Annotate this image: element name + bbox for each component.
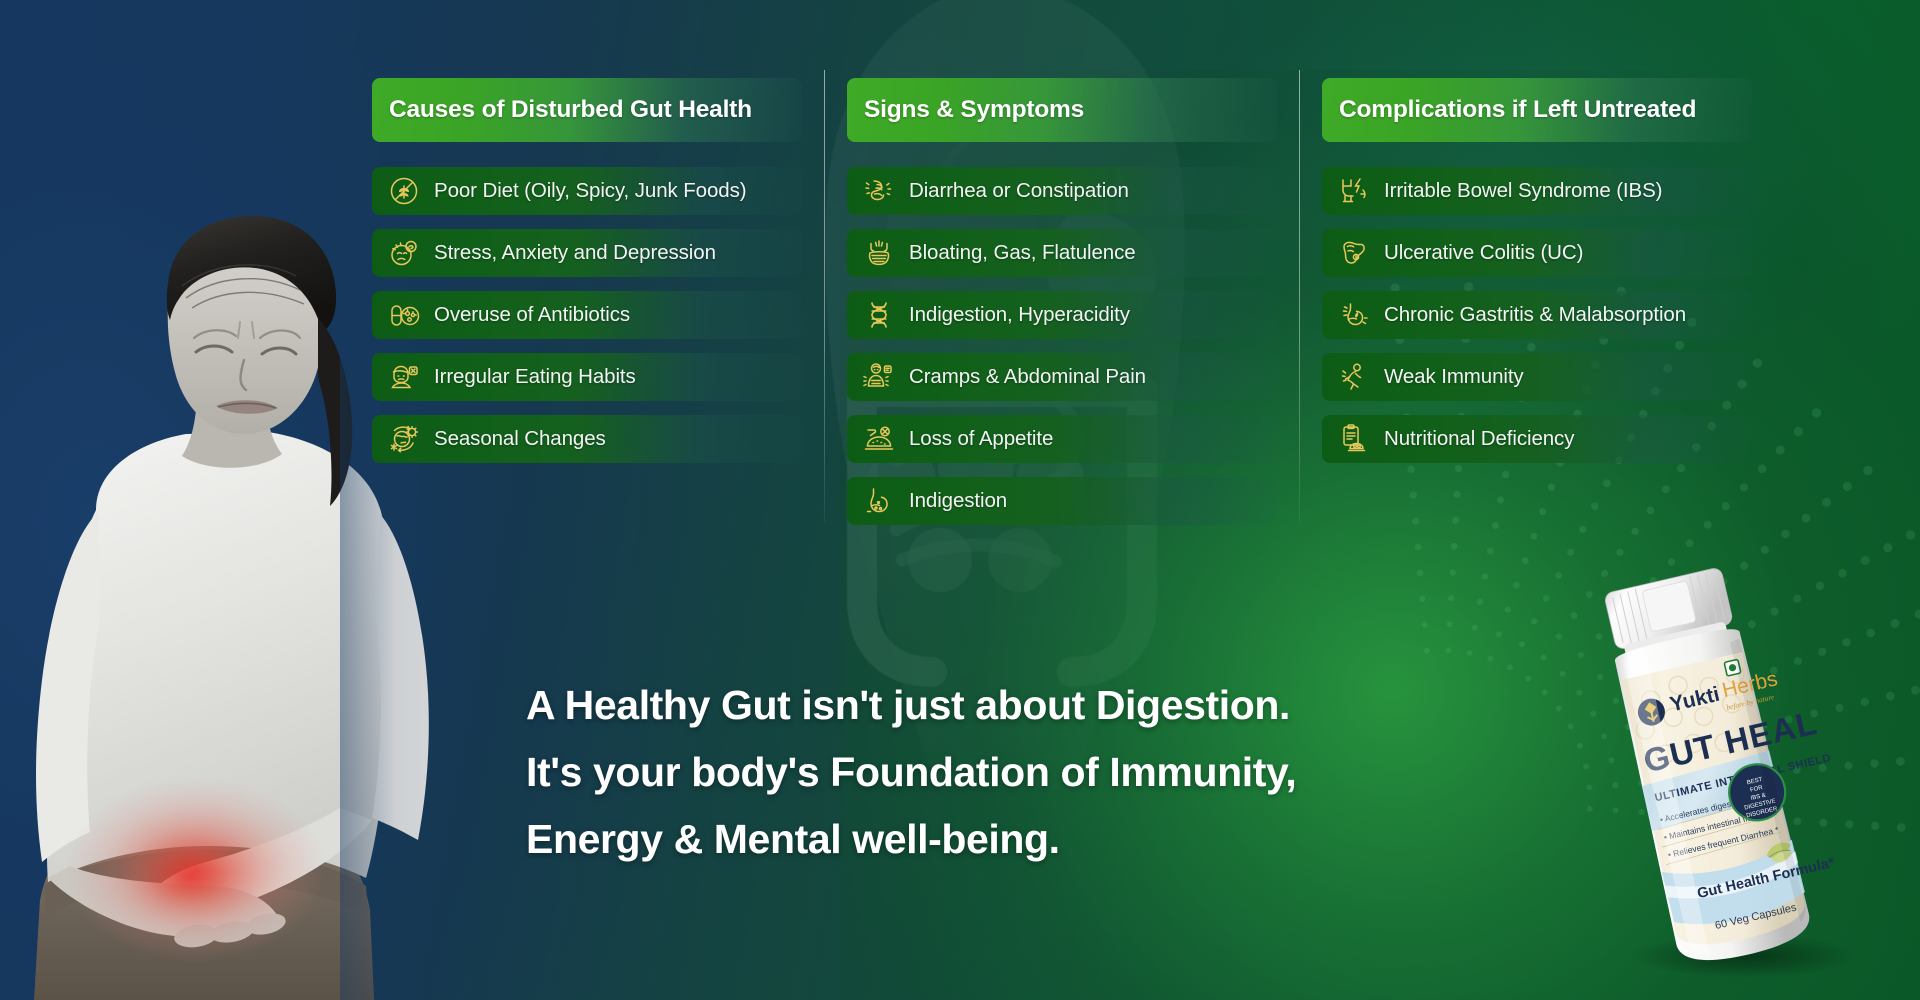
list-item-label: Overuse of Antibiotics	[434, 303, 630, 327]
list-item[interactable]: Irregular Eating Habits	[372, 353, 802, 401]
headline-line-3: Energy & Mental well-being.	[526, 806, 1586, 873]
list-item[interactable]: Bloating, Gas, Flatulence	[847, 229, 1277, 277]
list-item-label: Chronic Gastritis & Malabsorption	[1384, 303, 1686, 327]
no-grain-icon	[387, 174, 421, 208]
list-item-label: Nutritional Deficiency	[1384, 427, 1574, 451]
list-item[interactable]: Loss of Appetite	[847, 415, 1277, 463]
list-item[interactable]: Stress, Anxiety and Depression	[372, 229, 802, 277]
stressed-face-icon	[387, 236, 421, 270]
dna-helix-icon	[862, 298, 896, 332]
list-item[interactable]: Cramps & Abdominal Pain	[847, 353, 1277, 401]
gut-health-banner: Causes of Disturbed Gut Health Poor Diet…	[0, 0, 1920, 1000]
list-item-label: Ulcerative Colitis (UC)	[1384, 241, 1583, 265]
stomach-burn-icon	[1337, 298, 1371, 332]
nutrition-clipboard-icon	[1337, 422, 1371, 456]
seasonal-weather-icon	[387, 422, 421, 456]
colon-inflammation-icon	[1337, 236, 1371, 270]
list-item[interactable]: Overuse of Antibiotics	[372, 291, 802, 339]
column-title: Complications if Left Untreated	[1339, 96, 1696, 124]
list-item-label: Loss of Appetite	[909, 427, 1053, 451]
list-item[interactable]: Poor Diet (Oily, Spicy, Junk Foods)	[372, 167, 802, 215]
column-title: Signs & Symptoms	[864, 96, 1084, 124]
headline-line-1: A Healthy Gut isn't just about Digestion…	[526, 672, 1586, 739]
antibiotic-pill-icon	[387, 298, 421, 332]
list-item-label: Poor Diet (Oily, Spicy, Junk Foods)	[434, 179, 746, 203]
column-causes: Causes of Disturbed Gut Health Poor Diet…	[372, 78, 802, 548]
irregular-meal-icon	[387, 360, 421, 394]
column-header-causes: Causes of Disturbed Gut Health	[372, 78, 802, 142]
list-item[interactable]: Indigestion, Hyperacidity	[847, 291, 1277, 339]
list-item-label: Irritable Bowel Syndrome (IBS)	[1384, 179, 1662, 203]
headline: A Healthy Gut isn't just about Digestion…	[526, 672, 1586, 873]
column-symptoms: Signs & Symptoms Diarrhea or Constipatio…	[847, 78, 1277, 548]
list-item-label: Diarrhea or Constipation	[909, 179, 1129, 203]
stomach-icon	[862, 484, 896, 518]
column-divider	[824, 70, 825, 522]
headline-line-2: It's your body's Foundation of Immunity,	[526, 739, 1586, 806]
list-item-label: Irregular Eating Habits	[434, 365, 636, 389]
list-item-label: Indigestion, Hyperacidity	[909, 303, 1130, 327]
column-header-complications: Complications if Left Untreated	[1322, 78, 1752, 142]
list-item-label: Weak Immunity	[1384, 365, 1524, 389]
column-divider	[1299, 70, 1300, 522]
list-item-label: Seasonal Changes	[434, 427, 606, 451]
product-bottle: Yukti Herbs before by nature GUT HEAL UL…	[1588, 552, 1888, 982]
list-item[interactable]: Chronic Gastritis & Malabsorption	[1322, 291, 1752, 339]
list-item[interactable]: Nutritional Deficiency	[1322, 415, 1752, 463]
list-item[interactable]: Seasonal Changes	[372, 415, 802, 463]
no-food-plate-icon	[862, 422, 896, 456]
list-item-label: Cramps & Abdominal Pain	[909, 365, 1146, 389]
list-item[interactable]: Indigestion	[847, 477, 1277, 525]
info-columns: Causes of Disturbed Gut Health Poor Diet…	[372, 78, 1772, 548]
list-item[interactable]: Ulcerative Colitis (UC)	[1322, 229, 1752, 277]
list-item-label: Indigestion	[909, 489, 1007, 513]
list-item[interactable]: Diarrhea or Constipation	[847, 167, 1277, 215]
list-item[interactable]: Weak Immunity	[1322, 353, 1752, 401]
weak-person-icon	[1337, 360, 1371, 394]
list-item-label: Stress, Anxiety and Depression	[434, 241, 716, 265]
intestine-icon	[862, 174, 896, 208]
column-complications: Complications if Left Untreated Irritabl…	[1322, 78, 1752, 548]
column-header-symptoms: Signs & Symptoms	[847, 78, 1277, 142]
column-title: Causes of Disturbed Gut Health	[389, 96, 752, 124]
bloating-abdomen-icon	[862, 236, 896, 270]
toilet-urgency-icon	[1337, 174, 1371, 208]
list-item-label: Bloating, Gas, Flatulence	[909, 241, 1136, 265]
abdominal-cramps-icon	[862, 360, 896, 394]
list-item[interactable]: Irritable Bowel Syndrome (IBS)	[1322, 167, 1752, 215]
